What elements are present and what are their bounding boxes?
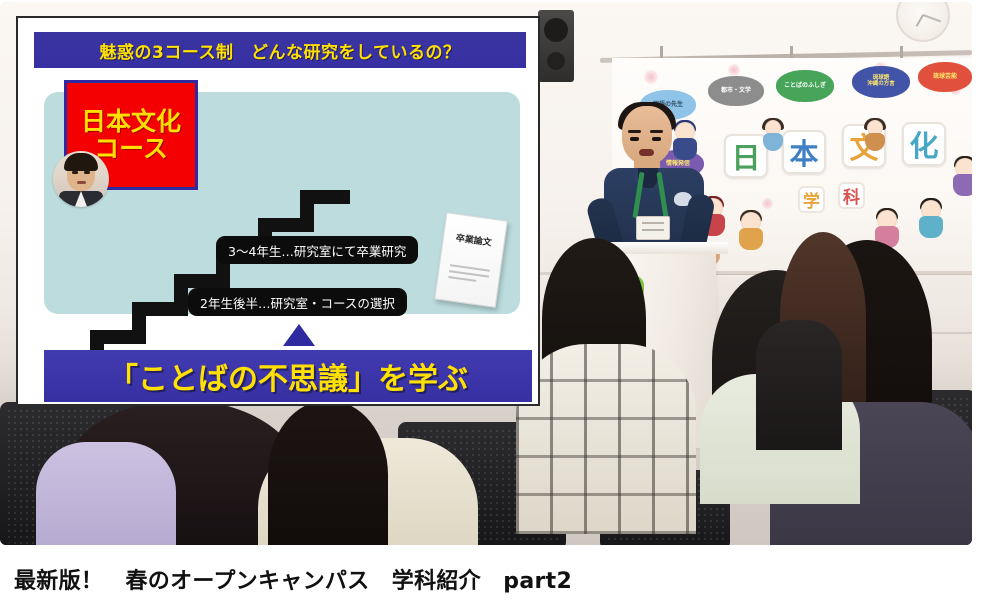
whiteboard-doll-icon [864,120,886,154]
rail-hook [660,46,663,58]
whiteboard-kanji-card: 科 [838,182,865,209]
video-player-frame[interactable]: 国語の先生 都市・文学 ことばのふしぎ 琉球語 沖縄の方言 琉球芸能 日本語教師… [0,2,972,545]
whiteboard-bubble: ことばのふしぎ [776,70,834,102]
rail-hook [900,46,903,58]
audience-member [268,400,388,545]
course-badge-line1: 日本文化 [81,108,181,135]
ceiling-speaker-icon [538,10,574,82]
callout-step-2nd-year: 2年生後半…研究室・コースの選択 [188,288,407,316]
whiteboard-bubble: 都市・文学 [708,76,764,106]
slide-bottom-banner: 「ことばの不思議」を学ぶ [44,350,532,402]
whiteboard-kanji-card: 学 [798,186,825,213]
audience-member-body [36,442,176,545]
course-badge-line2: コース [94,135,168,162]
projected-slide: 魅惑の3コース制 どんな研究をしているの？ 卒業論文 3～4年生…研究室 [16,16,540,406]
course-instructor-avatar [53,151,109,207]
rail-hook [790,46,793,58]
whiteboard-doll-icon [762,120,784,154]
video-caption-title[interactable]: 最新版！ 春のオープンキャンパス 学科紹介 part2 [14,563,572,595]
slide-title-bar: 魅惑の3コース制 どんな研究をしているの？ [34,32,526,68]
whiteboard-kanji-card: 本 [782,130,826,174]
triangle-marker-icon [283,324,315,346]
whiteboard-doll-icon [738,212,764,252]
whiteboard-doll-icon [918,200,944,240]
thesis-label: 卒業論文 [443,229,504,250]
slide-title: 魅惑の3コース制 どんな研究をしているの？ [100,38,461,63]
whiteboard-bubble: 琉球芸能 [918,62,972,92]
presenter-name-badge [636,216,670,240]
whiteboard-kanji-card: 化 [902,122,946,166]
whiteboard-bubble: 琉球語 沖縄の方言 [852,66,910,98]
audience-member-body [756,320,842,450]
whiteboard-doll-icon [952,158,972,198]
slide-bottom-banner-text: 「ことばの不思議」を学ぶ [108,354,468,398]
audience-member-body [516,344,696,534]
callout-step-3-4: 3～4年生…研究室にて卒業研究 [216,236,418,264]
thesis-paper-graphic: 卒業論文 [434,212,508,308]
